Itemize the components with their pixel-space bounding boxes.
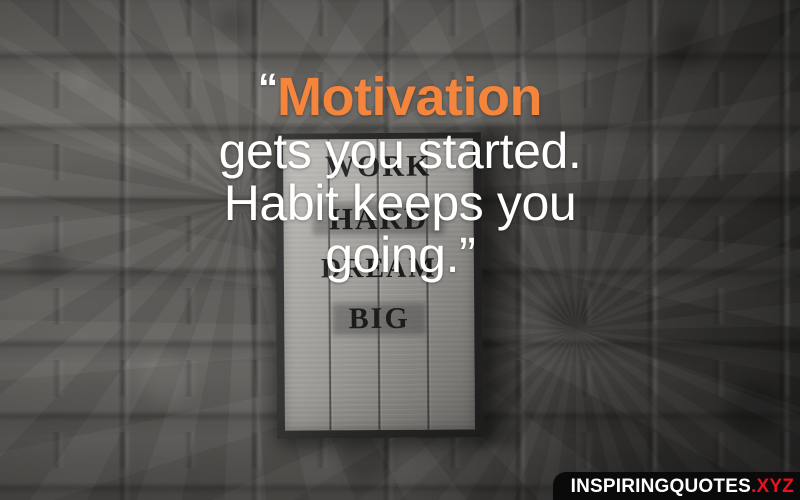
quote-text-overlay: “Motivation gets you started. Habit keep… xyxy=(0,68,800,281)
closing-quotation-mark: ” xyxy=(459,227,475,283)
quote-line-2: gets you started. xyxy=(0,125,800,177)
watermark-bar[interactable]: INSPIRINGQUOTES.XYZ xyxy=(553,472,800,500)
quote-line-4-text: going. xyxy=(325,227,459,283)
quote-line-1: “Motivation xyxy=(0,68,800,125)
quote-line-3: Habit keeps you xyxy=(0,177,800,229)
quote-keyword-motivation: Motivation xyxy=(277,67,542,127)
quote-line-4: going.” xyxy=(0,229,800,281)
quote-image-canvas: WORK HARD DREAM BIG “Motivation gets you… xyxy=(0,0,800,500)
watermark-text: INSPIRINGQUOTES.XYZ xyxy=(571,477,794,496)
opening-quotation-mark: “ xyxy=(258,66,276,110)
watermark-site-name: INSPIRINGQUOTES xyxy=(571,476,751,497)
watermark-site-tld: .XYZ xyxy=(751,476,794,497)
